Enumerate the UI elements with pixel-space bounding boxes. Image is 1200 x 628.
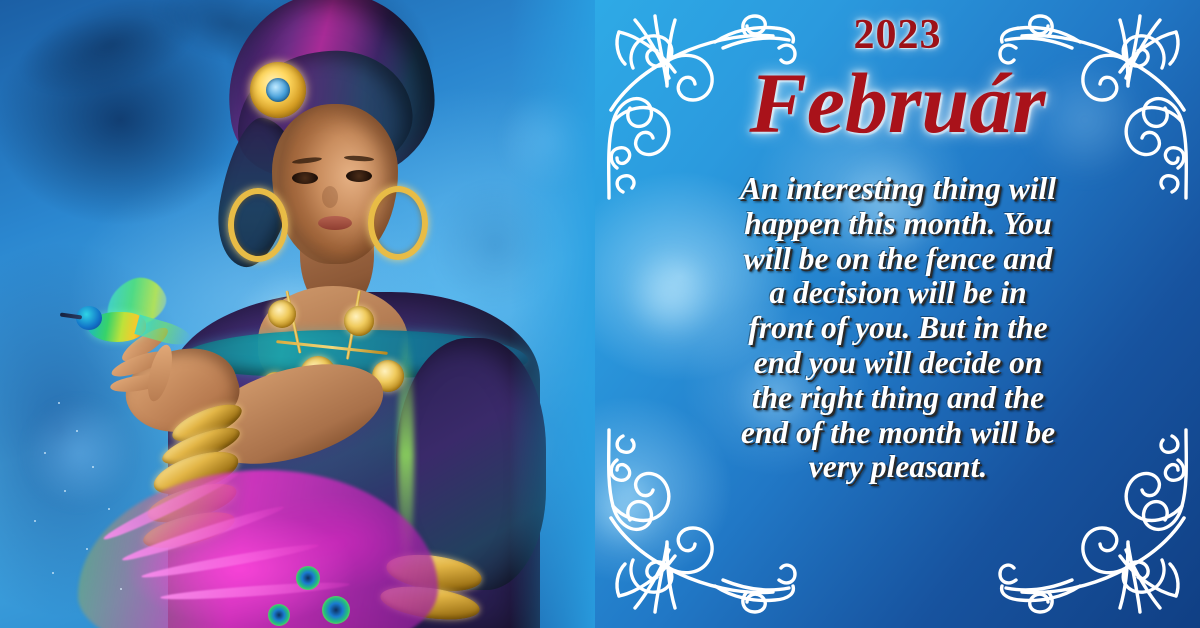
earring-icon	[368, 186, 428, 260]
sparkle	[52, 572, 54, 574]
sparkle	[120, 588, 122, 590]
woman-figure	[0, 0, 600, 628]
necklace-medallion	[268, 300, 296, 328]
sparkle	[86, 548, 88, 550]
nose	[322, 186, 338, 208]
sparkle	[108, 508, 110, 510]
illustration-panel	[0, 0, 600, 628]
horoscope-text: An interesting thing will happen this mo…	[655, 172, 1141, 485]
earring-icon	[228, 188, 288, 262]
peacock-eye	[268, 604, 290, 626]
year-label: 2023	[595, 14, 1200, 56]
sparkle	[92, 466, 94, 468]
necklace-medallion	[344, 306, 374, 336]
peacock-eye	[296, 566, 320, 590]
sparkle	[44, 452, 46, 454]
hummingbird	[58, 282, 168, 360]
peacock-eye	[322, 596, 350, 624]
eye	[292, 172, 318, 184]
eye	[346, 170, 372, 182]
sparkle	[34, 520, 36, 522]
sparkle	[64, 490, 66, 492]
text-panel: 2023 Február An interesting thing will h…	[595, 0, 1200, 628]
lips	[318, 216, 352, 230]
calendar-card: 2023 Február An interesting thing will h…	[0, 0, 1200, 628]
sparkle	[58, 402, 60, 404]
month-title: Február	[595, 60, 1200, 146]
turban-brooch-icon	[250, 62, 306, 118]
sparkle	[76, 430, 78, 432]
